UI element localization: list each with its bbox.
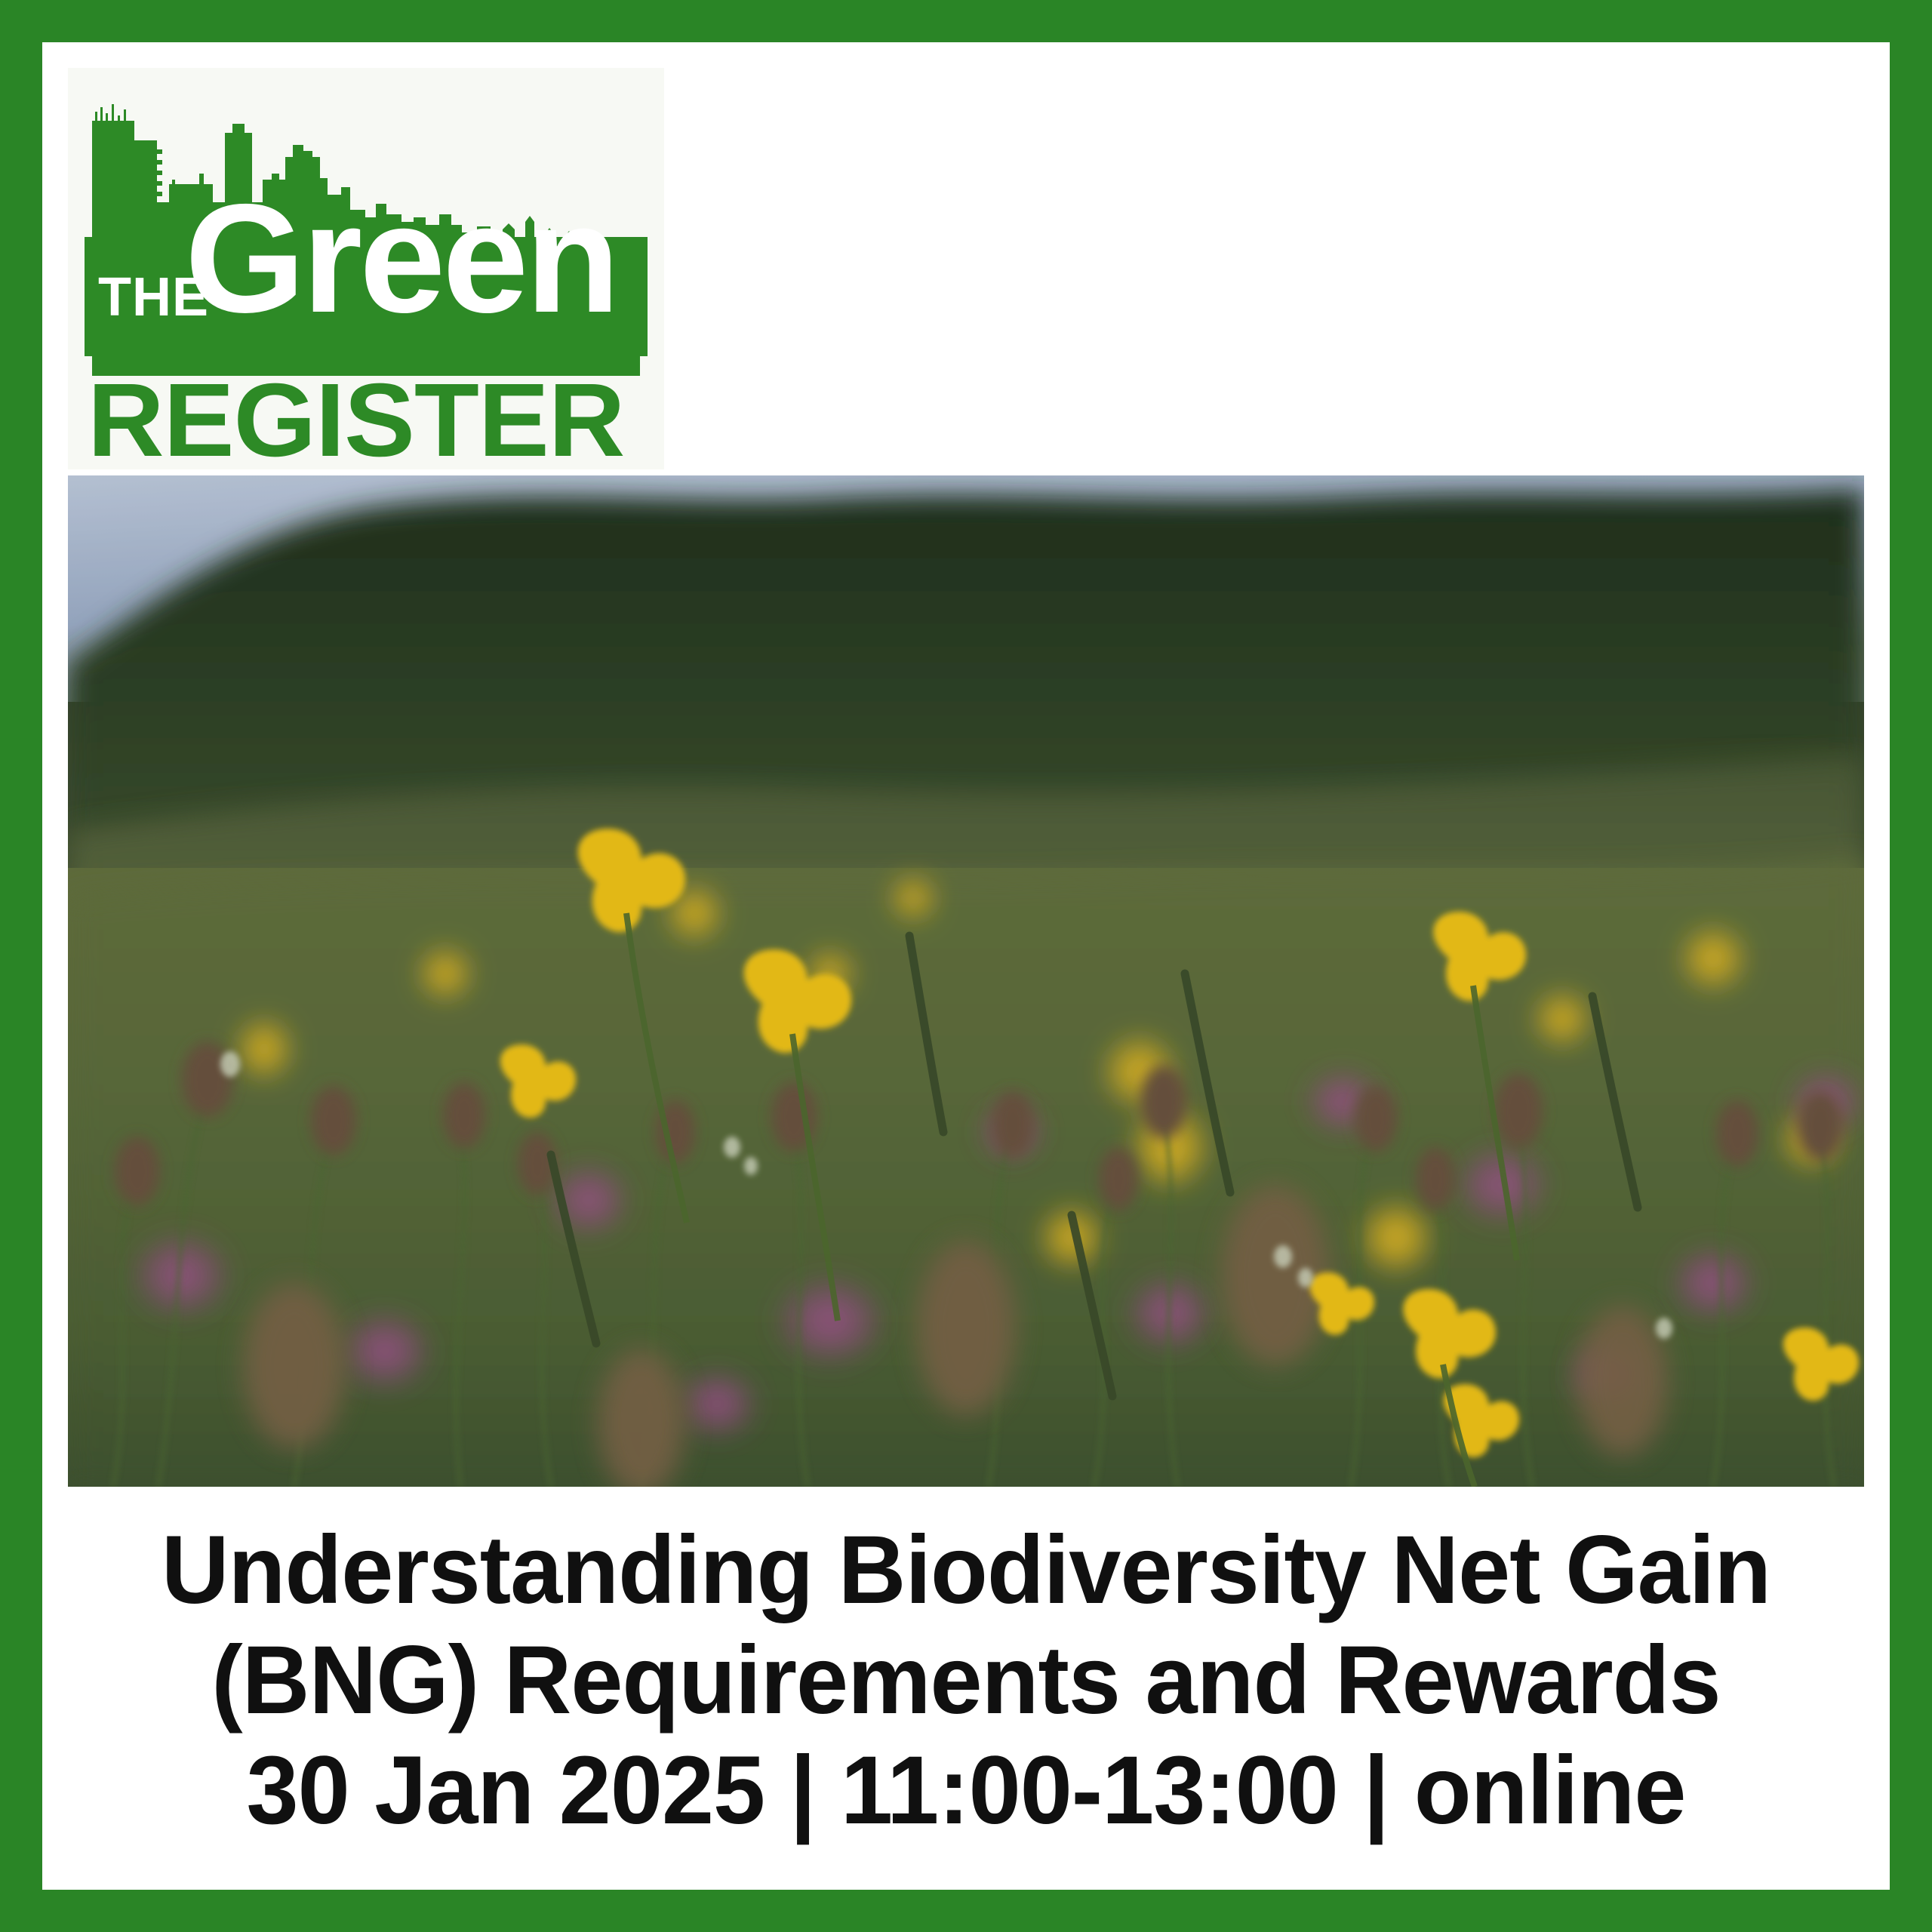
- title-line-3-date-time-location: 30 Jan 2025 | 11:00-13:00 | online: [70, 1736, 1863, 1846]
- title-line-2: (BNG) Requirements and Rewards: [70, 1626, 1863, 1736]
- wildflower-meadow-photo: [68, 475, 1864, 1487]
- title-line-1: Understanding Biodiversity Net Gain: [70, 1515, 1863, 1626]
- event-title-block: Understanding Biodiversity Net Gain (BNG…: [42, 1515, 1890, 1846]
- the-green-register-logo[interactable]: THE Green REGISTER OF CONSTRUCTION PROFE…: [68, 68, 664, 469]
- poster-white-card: THE Green REGISTER OF CONSTRUCTION PROFE…: [42, 42, 1890, 1890]
- logo-word-green: Green: [185, 181, 617, 336]
- poster-green-frame: THE Green REGISTER OF CONSTRUCTION PROFE…: [0, 0, 1932, 1932]
- logo-word-register: REGISTER: [88, 368, 624, 469]
